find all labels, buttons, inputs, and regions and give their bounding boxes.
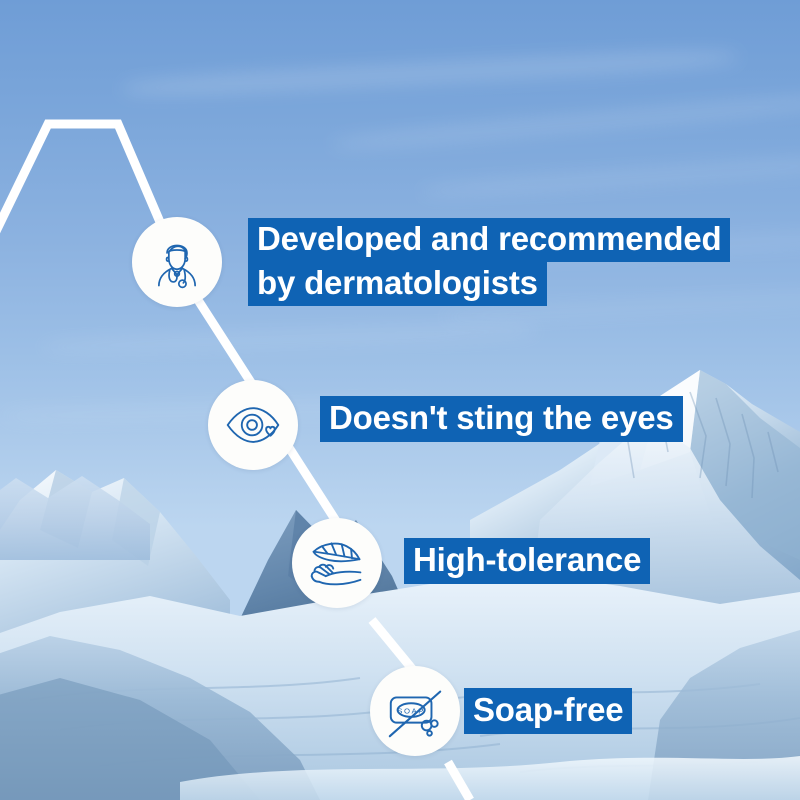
- benefit-text-line: Soap-free: [464, 688, 632, 734]
- benefit-text-line: by dermatologists: [248, 262, 547, 306]
- benefit-label-soap-free: Soap-free: [464, 688, 632, 734]
- infographic-canvas: SOAP Developed and recommended by dermat…: [0, 0, 800, 800]
- benefit-label-eyes: Doesn't sting the eyes: [320, 396, 683, 442]
- no-soap-icon: SOAP: [384, 680, 446, 742]
- benefit-text-line: Doesn't sting the eyes: [320, 396, 683, 442]
- hand-feather-icon: [307, 533, 367, 593]
- benefit-text-line: Developed and recommended: [248, 218, 730, 262]
- doctor-stethoscope-icon: [148, 233, 206, 291]
- benefit-bubble-dermatologists[interactable]: [132, 217, 222, 307]
- benefit-bubble-tolerance[interactable]: [292, 518, 382, 608]
- benefit-text-line: High-tolerance: [404, 538, 650, 584]
- benefit-label-dermatologists: Developed and recommended by dermatologi…: [248, 218, 730, 306]
- benefit-bubble-eyes[interactable]: [208, 380, 298, 470]
- eye-heart-icon: [223, 395, 283, 455]
- benefit-bubble-soap-free[interactable]: SOAP: [370, 666, 460, 756]
- benefit-label-tolerance: High-tolerance: [404, 538, 650, 584]
